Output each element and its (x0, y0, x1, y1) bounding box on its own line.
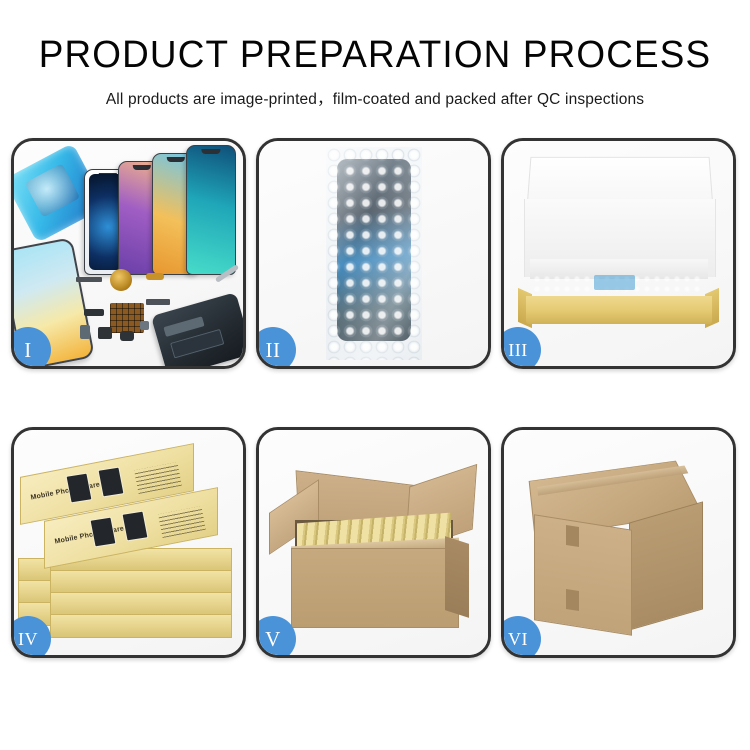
panel-6-image (504, 430, 733, 655)
notch-icon (167, 157, 185, 162)
spare-parts-group (76, 269, 243, 361)
retail-box-stack-item (50, 570, 232, 594)
panel-3-image (504, 141, 733, 366)
mesh-grille-part (110, 303, 144, 333)
ribbon-cable-part (146, 299, 170, 305)
page-subtitle: All products are image-printed，film-coat… (0, 87, 750, 109)
process-panel-3: III (501, 138, 736, 369)
carton-front-panel (291, 548, 459, 628)
process-panel-5: V (256, 427, 491, 658)
camera-module-part (98, 327, 112, 339)
panel-1-image (14, 141, 243, 366)
retail-box-stack-item (50, 614, 232, 638)
carton-seam-bottom (566, 589, 579, 611)
notch-icon (133, 165, 151, 170)
process-panel-4: Mobile Phone Spare Parts Mobile Phone Sp… (11, 427, 246, 658)
notch-icon (99, 173, 117, 178)
page-title: PRODUCT PREPARATION PROCESS (11, 36, 739, 74)
process-panel-1: I (11, 138, 246, 369)
panel-4-image: Mobile Phone Spare Parts Mobile Phone Sp… (14, 430, 243, 655)
panel-5-image (259, 430, 488, 655)
page-header: PRODUCT PREPARATION PROCESS All products… (0, 0, 750, 109)
carton-front-panel (534, 514, 632, 636)
connector-part (146, 273, 164, 280)
process-panel-grid: I II III (11, 138, 739, 652)
plastic-gloss-overlay (326, 147, 422, 360)
flex-cable-part (76, 277, 102, 282)
process-panel-6: VI (501, 427, 736, 658)
panel-2-image (259, 141, 488, 366)
screw-part (140, 321, 149, 330)
phone-screen-4 (186, 145, 236, 275)
process-panel-2: II (256, 138, 491, 369)
bracket-part (84, 309, 104, 316)
phone-screen-fan (84, 155, 243, 275)
box-front-panel (526, 296, 712, 324)
carton-side-panel (629, 501, 703, 630)
sim-tray-part (80, 325, 90, 339)
carton-seam-top (566, 525, 579, 547)
button-part (120, 331, 134, 341)
carton-side-panel (445, 536, 469, 618)
packed-product (532, 274, 704, 298)
notch-icon (201, 149, 220, 154)
speaker-coil-part (110, 269, 132, 291)
retail-box-stack-item (50, 592, 232, 616)
